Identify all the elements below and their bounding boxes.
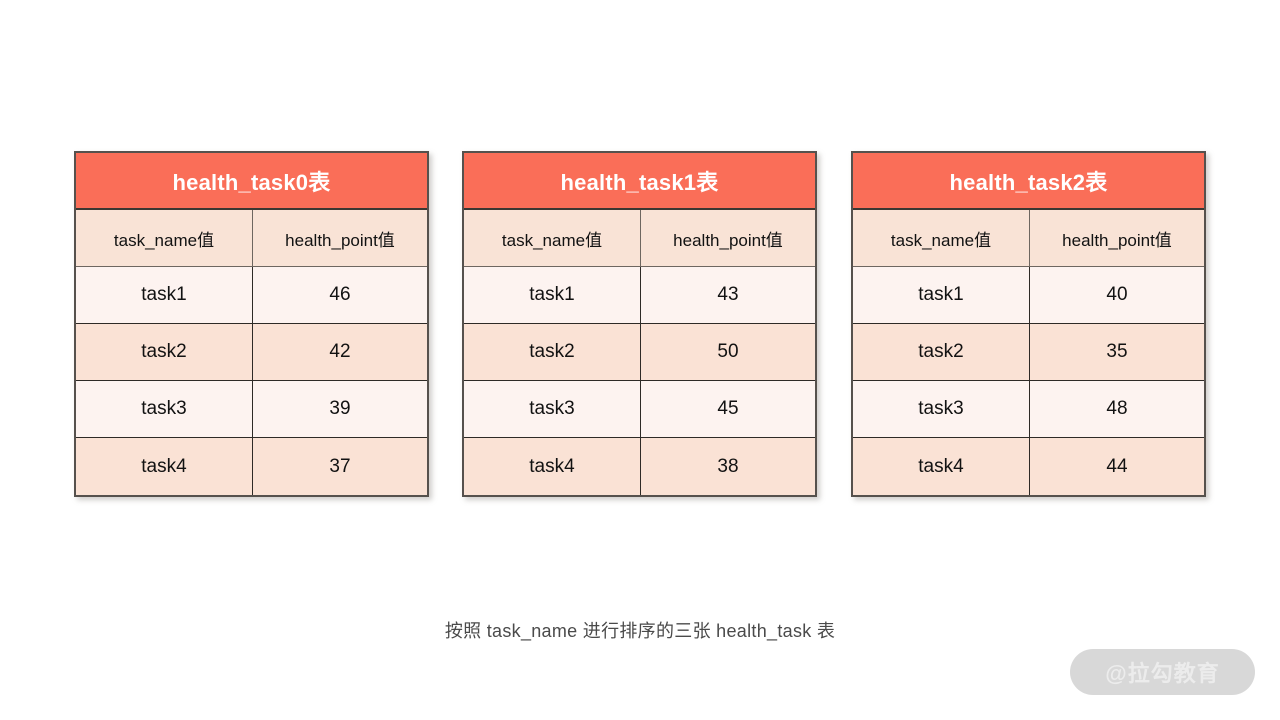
slide-canvas: health_task0表 task_name值 health_point值 t… xyxy=(0,0,1280,720)
cell-task-name: task2 xyxy=(464,324,641,380)
cell-task-name: task4 xyxy=(464,438,641,495)
cell-task-name: task3 xyxy=(853,381,1030,437)
table-row: task2 35 xyxy=(853,324,1204,381)
cell-health-point: 37 xyxy=(253,438,427,495)
table-row: task4 38 xyxy=(464,438,815,495)
cell-task-name: task2 xyxy=(76,324,253,380)
cell-task-name: task3 xyxy=(76,381,253,437)
cell-task-name: task1 xyxy=(853,267,1030,323)
table-title-health-task0: health_task0表 xyxy=(76,153,427,210)
table-row: task3 45 xyxy=(464,381,815,438)
watermark-badge: @拉勾教育 xyxy=(1070,649,1255,695)
table-row: task1 40 xyxy=(853,267,1204,324)
cell-health-point: 50 xyxy=(641,324,815,380)
table-row: task3 48 xyxy=(853,381,1204,438)
cell-health-point: 39 xyxy=(253,381,427,437)
cell-task-name: task1 xyxy=(76,267,253,323)
table-header-row: task_name值 health_point值 xyxy=(76,210,427,267)
column-header-health-point: health_point值 xyxy=(641,210,815,266)
table-card-health-task2: health_task2表 task_name值 health_point值 t… xyxy=(851,151,1206,497)
table-row: task3 39 xyxy=(76,381,427,438)
cell-health-point: 44 xyxy=(1030,438,1204,495)
figure-caption: 按照 task_name 进行排序的三张 health_task 表 xyxy=(0,617,1280,643)
table-grid-health-task2: task_name值 health_point值 task1 40 task2 … xyxy=(853,210,1204,495)
table-card-health-task0: health_task0表 task_name值 health_point值 t… xyxy=(74,151,429,497)
table-row: task1 46 xyxy=(76,267,427,324)
column-header-health-point: health_point值 xyxy=(253,210,427,266)
column-header-task-name: task_name值 xyxy=(464,210,641,266)
cell-health-point: 43 xyxy=(641,267,815,323)
table-row: task2 42 xyxy=(76,324,427,381)
table-card-health-task1: health_task1表 task_name值 health_point值 t… xyxy=(462,151,817,497)
cell-health-point: 46 xyxy=(253,267,427,323)
table-row: task4 37 xyxy=(76,438,427,495)
table-title-health-task1: health_task1表 xyxy=(464,153,815,210)
cell-health-point: 35 xyxy=(1030,324,1204,380)
cell-health-point: 42 xyxy=(253,324,427,380)
table-header-row: task_name值 health_point值 xyxy=(464,210,815,267)
cell-task-name: task4 xyxy=(853,438,1030,495)
table-title-health-task2: health_task2表 xyxy=(853,153,1204,210)
watermark-label: @拉勾教育 xyxy=(1105,656,1219,688)
table-grid-health-task0: task_name值 health_point值 task1 46 task2 … xyxy=(76,210,427,495)
table-header-row: task_name值 health_point值 xyxy=(853,210,1204,267)
column-header-health-point: health_point值 xyxy=(1030,210,1204,266)
cell-health-point: 40 xyxy=(1030,267,1204,323)
column-header-task-name: task_name值 xyxy=(853,210,1030,266)
cell-task-name: task2 xyxy=(853,324,1030,380)
cell-task-name: task1 xyxy=(464,267,641,323)
cell-health-point: 45 xyxy=(641,381,815,437)
cell-task-name: task4 xyxy=(76,438,253,495)
column-header-task-name: task_name值 xyxy=(76,210,253,266)
table-grid-health-task1: task_name值 health_point值 task1 43 task2 … xyxy=(464,210,815,495)
table-row: task1 43 xyxy=(464,267,815,324)
table-row: task4 44 xyxy=(853,438,1204,495)
table-row: task2 50 xyxy=(464,324,815,381)
cell-health-point: 38 xyxy=(641,438,815,495)
cell-task-name: task3 xyxy=(464,381,641,437)
cell-health-point: 48 xyxy=(1030,381,1204,437)
